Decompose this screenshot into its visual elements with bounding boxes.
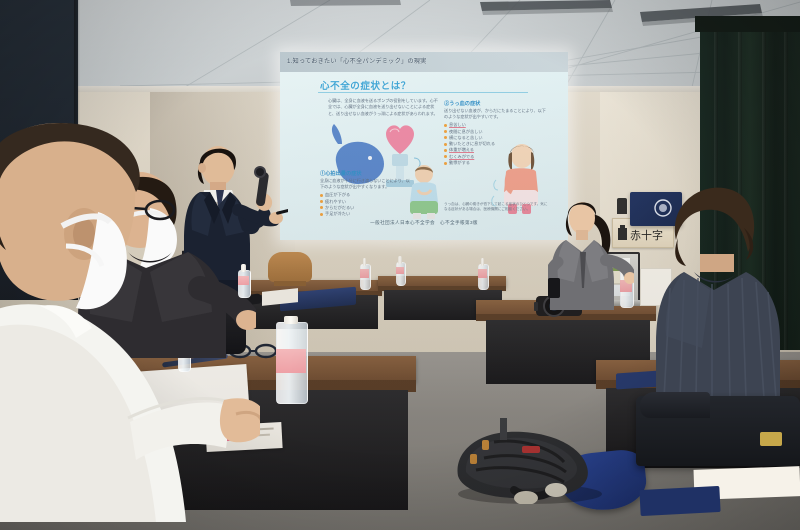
chair-tag-icon: [760, 432, 782, 446]
pointer-icon: [276, 208, 288, 215]
water-bottle-icon: [396, 256, 404, 284]
slide-header-text: 1.知っておきたい「心不全パンデミック」の現実: [287, 56, 427, 65]
water-bottle-icon: [360, 258, 369, 288]
curtain-rail: [695, 16, 800, 32]
attendee-center-right: [548, 196, 634, 310]
right-column-heading: ②うっ血の症状: [444, 100, 548, 107]
attendee-foreground-left: [0, 122, 260, 530]
slide-footer: 一般社団法人日本心不全学会 心不全手帳第3版: [280, 220, 568, 226]
slide-title: 心不全の症状とは？: [320, 78, 411, 92]
backpack-icon: [448, 418, 608, 504]
smartphone-icon: [548, 278, 560, 298]
seated-boy-illustration: [398, 164, 454, 222]
lecture-room-photo: 赤十字 1.知っておきたい「心不全パンデミック」の現実 心不全の症状とは？ 心臓…: [0, 0, 800, 530]
presentation-slide: 1.知っておきたい「心不全パンデミック」の現実 心不全の症状とは？ 心臓は、全身…: [280, 52, 568, 240]
slide-note-text: うっ血は、心臓の働きが低下して起こる症状のひとつです。気になる症状がある場合は、…: [444, 202, 548, 213]
water-bottle-icon: [276, 316, 306, 402]
navy-folder: [639, 486, 720, 516]
water-bottle-icon: [478, 258, 487, 288]
attendee-right-foreground: [648, 168, 800, 398]
jacket-fold: [640, 392, 710, 418]
right-column-text: 送り出せない血液が、からだにたまることにより、以下のような症状が出やすいです。: [444, 108, 548, 120]
slide-title-rule: [318, 92, 528, 93]
